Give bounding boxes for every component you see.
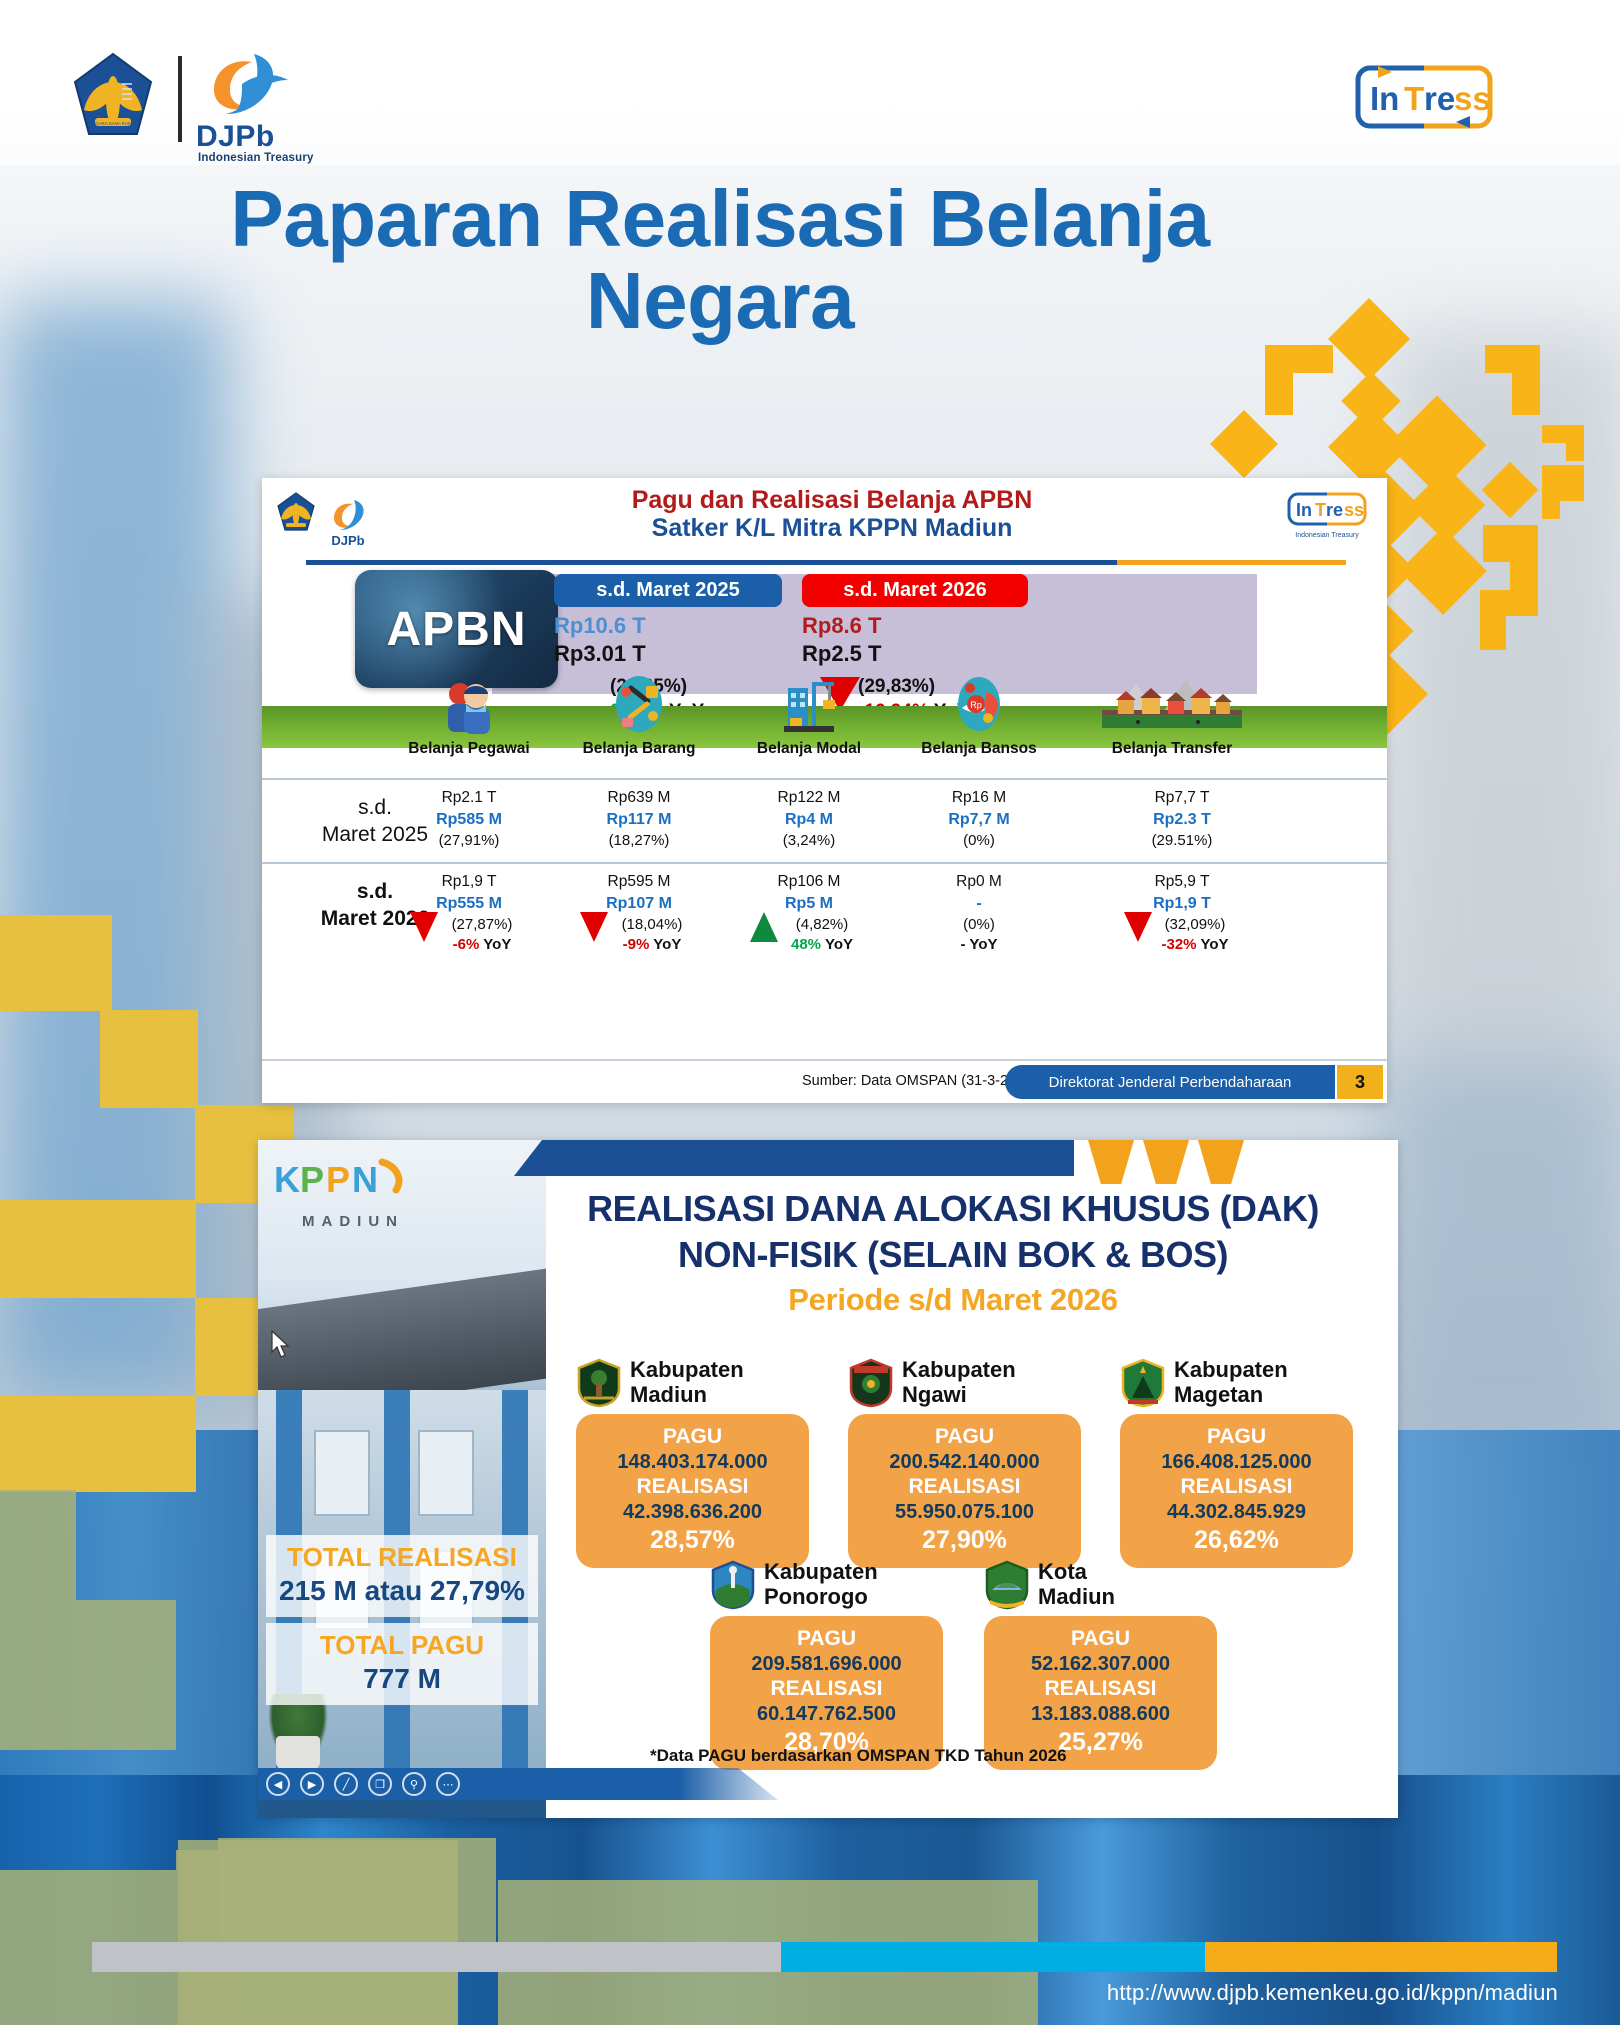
- category-label: Belanja Modal: [724, 740, 894, 758]
- period-2025-pill: s.d. Maret 2025: [554, 574, 782, 607]
- officers-icon: [384, 674, 554, 736]
- total-pagu-title: TOTAL PAGU: [270, 1631, 534, 1660]
- progress-segment-cyan: [781, 1942, 1206, 1972]
- header-divider: [178, 56, 182, 142]
- slide-apbn[interactable]: DJPb Pagu dan Realisasi Belanja APBN Sat…: [262, 478, 1387, 1103]
- total-realisasi-title: TOTAL REALISASI: [270, 1543, 534, 1572]
- intress-logo-icon: In T re ss: [1348, 58, 1500, 136]
- chevron-decor-icon: [1198, 1140, 1244, 1184]
- category-bansos: Rp Belanja Bansos: [894, 674, 1064, 758]
- dak-card-body: PAGU 148.403.174.000 REALISASI 42.398.63…: [576, 1414, 809, 1568]
- cell-2025-transfer: Rp7,7 T Rp2.3 T (29.51%): [1082, 788, 1282, 851]
- ponorogo-crest-icon: [710, 1560, 756, 1610]
- tools-circle-icon: [554, 674, 724, 736]
- dak-card-kota-madiun: Kota Madiun PAGU 52.162.307.000 REALISAS…: [984, 1558, 1217, 1770]
- djpb-sublabel: Indonesian Treasury: [198, 152, 368, 164]
- slide1-title-line1: Pagu dan Realisasi Belanja APBN: [432, 486, 1232, 514]
- category-barang: Belanja Barang: [554, 674, 724, 758]
- apbn-image: APBN: [355, 570, 558, 688]
- trend-down-icon: [410, 912, 438, 942]
- dak-card-magetan: Kabupaten Magetan PAGU 166.408.125.000 R…: [1120, 1356, 1353, 1568]
- slide-dak[interactable]: K P P N MADIUN TOTAL REALISASI 215 M ata…: [258, 1140, 1398, 1818]
- dak-card-header: Kabupaten Madiun: [576, 1356, 809, 1410]
- cell-2025-modal: Rp122 M Rp4 M (3,24%): [724, 788, 894, 851]
- category-modal: Belanja Modal: [724, 674, 894, 758]
- svg-text:P: P: [326, 1159, 350, 1200]
- slide2-title-line2: NON-FISIK (SELAIN BOK & BOS): [558, 1232, 1348, 1278]
- svg-text:re: re: [1326, 500, 1343, 520]
- svg-text:In: In: [1370, 80, 1399, 117]
- chevron-decor-icon: [1088, 1140, 1134, 1184]
- table-row-2025: s.d. Maret 2025 Rp2.1 T Rp585 M (27,91%)…: [262, 778, 1387, 862]
- svg-text:N: N: [352, 1159, 378, 1200]
- slide1-page-number: 3: [1337, 1065, 1383, 1099]
- slide1-intress-caption: Indonesian Treasury: [1295, 532, 1359, 539]
- zoom-icon[interactable]: ⚲: [402, 1772, 426, 1796]
- cell-2026-pegawai: Rp1,9 T Rp555 M (27,87%) -6% YoY: [384, 872, 554, 954]
- svg-text:In: In: [1296, 500, 1312, 520]
- slide1-org-badge: Direktorat Jenderal Perbendaharaan: [1005, 1065, 1335, 1099]
- svg-text:re: re: [1424, 80, 1455, 117]
- svg-text:Rp: Rp: [970, 700, 982, 710]
- djpb-swoosh-icon: [196, 48, 366, 120]
- svg-text:ss: ss: [1454, 80, 1491, 117]
- trend-down-icon: [1124, 912, 1152, 942]
- total-pagu-value: 777 M: [270, 1662, 534, 1696]
- dak-card-header: Kabupaten Ponorogo: [710, 1558, 943, 1612]
- table-row-2026: s.d. Maret 2026 Rp1,9 T Rp555 M (27,87%)…: [262, 862, 1387, 962]
- cell-2025-barang: Rp639 M Rp117 M (18,27%): [554, 788, 724, 851]
- mouse-cursor-icon: [270, 1330, 292, 1360]
- plant-pot: [276, 1736, 320, 1770]
- dak-card-ponorogo: Kabupaten Ponorogo PAGU 209.581.696.000 …: [710, 1558, 943, 1770]
- next-slide-icon[interactable]: ▶: [300, 1772, 324, 1796]
- cell-2025-pegawai: Rp2.1 T Rp585 M (27,91%): [384, 788, 554, 851]
- slide1-divider: [306, 560, 1346, 565]
- kemenkeu-crest-icon: NAGARA DANA RAKCA: [72, 52, 154, 144]
- dak-card-name: Kabupaten Ngawi: [902, 1358, 1016, 1407]
- summary-2025-realisasi: Rp3.01 T: [554, 640, 794, 668]
- slide1-djpb-logo-icon: DJPb: [274, 490, 384, 548]
- dak-card-name: Kota Madiun: [1038, 1560, 1115, 1609]
- dak-card-header: Kota Madiun: [984, 1558, 1217, 1612]
- period-2026-pill: s.d. Maret 2026: [802, 574, 1028, 607]
- category-label: Belanja Barang: [554, 740, 724, 758]
- dak-card-name: Kabupaten Madiun: [630, 1358, 744, 1407]
- svg-text:K: K: [274, 1159, 300, 1200]
- construction-crane-icon: [724, 674, 894, 736]
- ngawi-crest-icon: [848, 1358, 894, 1408]
- svg-text:P: P: [300, 1159, 324, 1200]
- page-title: Paparan Realisasi Belanja Negara: [130, 178, 1310, 341]
- cell-2026-modal: Rp106 M Rp5 M (4,82%) 48% YoY: [724, 872, 894, 954]
- site-url[interactable]: http://www.djpb.kemenkeu.go.id/kppn/madi…: [1107, 1980, 1558, 2006]
- village-houses-icon: [1072, 674, 1272, 736]
- cell-2026-transfer: Rp5,9 T Rp1,9 T (32,09%) -32% YoY: [1082, 872, 1282, 954]
- realisasi-table: s.d. Maret 2025 Rp2.1 T Rp585 M (27,91%)…: [262, 778, 1387, 962]
- svg-text:ss: ss: [1344, 500, 1364, 520]
- slide1-title: Pagu dan Realisasi Belanja APBN Satker K…: [432, 486, 1232, 543]
- total-realisasi-box: TOTAL REALISASI 215 M atau 27,79%: [266, 1535, 538, 1617]
- more-options-icon[interactable]: ⋯: [436, 1772, 460, 1796]
- summary-2025-pagu: Rp10.6 T: [554, 612, 794, 640]
- svg-text:DJPb: DJPb: [331, 533, 364, 548]
- total-realisasi-value: 215 M atau 27,79%: [270, 1574, 534, 1608]
- pen-icon[interactable]: ╱: [334, 1772, 358, 1796]
- slide1-title-line2: Satker K/L Mitra KPPN Madiun: [432, 514, 1232, 543]
- slide1-intress-logo-icon: In T re ss Indonesian Treasury: [1281, 492, 1373, 542]
- dak-card-body: PAGU 200.542.140.000 REALISASI 55.950.07…: [848, 1414, 1081, 1568]
- summary-2026-pagu: Rp8.6 T: [802, 612, 1042, 640]
- all-slides-icon[interactable]: ❐: [368, 1772, 392, 1796]
- trend-down-icon: [580, 912, 608, 942]
- djpb-logo: DJPb Indonesian Treasury: [196, 48, 366, 150]
- slide2-note: *Data PAGU berdasarkan OMSPAN TKD Tahun …: [650, 1746, 1067, 1766]
- dak-card-madiun: Kabupaten Madiun PAGU 148.403.174.000 RE…: [576, 1356, 809, 1568]
- svg-text:T: T: [1315, 500, 1326, 520]
- kota-madiun-crest-icon: [984, 1560, 1030, 1610]
- kppn-swoosh-icon: K P P N: [274, 1156, 464, 1206]
- category-transfer: Belanja Transfer: [1072, 674, 1272, 758]
- chevron-decor-icon: [1143, 1140, 1189, 1184]
- dak-card-ngawi: Kabupaten Ngawi PAGU 200.542.140.000 REA…: [848, 1356, 1081, 1568]
- slide2-building-photo: [258, 1140, 546, 1818]
- dak-card-body: PAGU 166.408.125.000 REALISASI 44.302.84…: [1120, 1414, 1353, 1568]
- category-label: Belanja Pegawai: [384, 740, 554, 758]
- madiun-crest-icon: [576, 1358, 622, 1408]
- slide2-title-line1: REALISASI DANA ALOKASI KHUSUS (DAK): [558, 1186, 1348, 1232]
- category-pegawai: Belanja Pegawai: [384, 674, 554, 758]
- cell-2026-barang: Rp595 M Rp107 M (18,04%) -9% YoY: [554, 872, 724, 954]
- apbn-image-label: APBN: [386, 602, 526, 657]
- cell-2025-bansos: Rp16 M Rp7,7 M (0%): [894, 788, 1064, 851]
- progress-segment-gray: [92, 1942, 781, 1972]
- kppn-madiun-logo: K P P N MADIUN: [274, 1156, 464, 1228]
- total-pagu-box: TOTAL PAGU 777 M: [266, 1623, 538, 1705]
- category-label: Belanja Bansos: [894, 740, 1064, 758]
- slide2-header-bar: [514, 1140, 1074, 1176]
- slide2-title-line3: Periode s/d Maret 2026: [558, 1282, 1348, 1318]
- trend-up-icon: [750, 912, 778, 942]
- dak-card-name: Kabupaten Ponorogo: [764, 1560, 878, 1609]
- presenter-toolbar[interactable]: ◀ ▶ ╱ ❐ ⚲ ⋯: [258, 1768, 798, 1800]
- svg-text:T: T: [1404, 80, 1424, 117]
- djpb-label: DJPb: [196, 120, 366, 154]
- slide2-title: REALISASI DANA ALOKASI KHUSUS (DAK) NON-…: [558, 1186, 1348, 1318]
- progress-bar: [92, 1942, 1557, 1972]
- dak-card-header: Kabupaten Ngawi: [848, 1356, 1081, 1410]
- summary-2026-realisasi: Rp2.5 T: [802, 640, 1042, 668]
- slide1-footer: Sumber: Data OMSPAN (31-3-2026) diolah D…: [262, 1059, 1387, 1103]
- progress-segment-orange: [1205, 1942, 1557, 1972]
- prev-slide-icon[interactable]: ◀: [266, 1772, 290, 1796]
- hand-money-icon: Rp: [894, 674, 1064, 736]
- category-label: Belanja Transfer: [1072, 740, 1272, 758]
- kppn-sublabel: MADIUN: [302, 1213, 464, 1230]
- dak-card-name: Kabupaten Magetan: [1174, 1358, 1288, 1407]
- cell-2026-bansos: Rp0 M - (0%) - YoY: [894, 872, 1064, 954]
- category-row: Belanja Pegawai Belanja Barang: [262, 674, 1387, 774]
- magetan-crest-icon: [1120, 1358, 1166, 1408]
- dak-card-header: Kabupaten Magetan: [1120, 1356, 1353, 1410]
- svg-text:NAGARA DANA RAKCA: NAGARA DANA RAKCA: [89, 121, 137, 126]
